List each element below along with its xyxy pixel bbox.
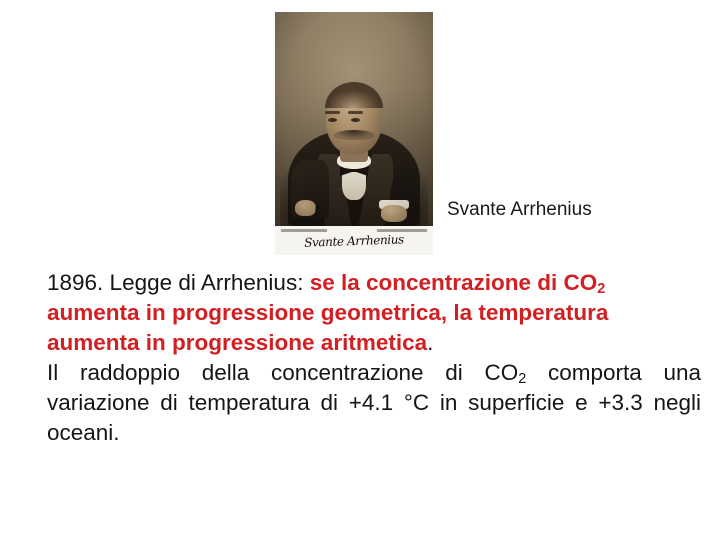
portrait-vignette: [275, 12, 433, 226]
co2-subscript-1: 2: [597, 281, 605, 297]
portrait-image-area: [275, 12, 433, 226]
slide-root: Svante Arrhenius Svante Arrhenius 1896. …: [0, 0, 720, 540]
photo-caption: Svante Arrhenius: [447, 199, 592, 221]
paragraph-arrhenius-law: 1896. Legge di Arrhenius: se la concentr…: [47, 268, 701, 358]
portrait-credit-left: [281, 229, 327, 232]
slide-body-text: 1896. Legge di Arrhenius: se la concentr…: [47, 268, 701, 448]
law-highlight-part2: aumenta in progressione geometrica, la t…: [47, 300, 608, 355]
portrait-matte: Svante Arrhenius: [275, 226, 433, 255]
doubling-part1: Il raddoppio della concentrazione di CO: [47, 360, 518, 385]
law-end-period: .: [427, 330, 433, 355]
law-highlight-part1: se la concentrazione di CO: [310, 270, 598, 295]
portrait-signature: Svante Arrhenius: [304, 232, 404, 249]
portrait-photo: Svante Arrhenius: [275, 12, 433, 255]
law-lead-text: 1896. Legge di Arrhenius:: [47, 270, 310, 295]
paragraph-doubling-effect: Il raddoppio della concentrazione di CO2…: [47, 358, 701, 448]
